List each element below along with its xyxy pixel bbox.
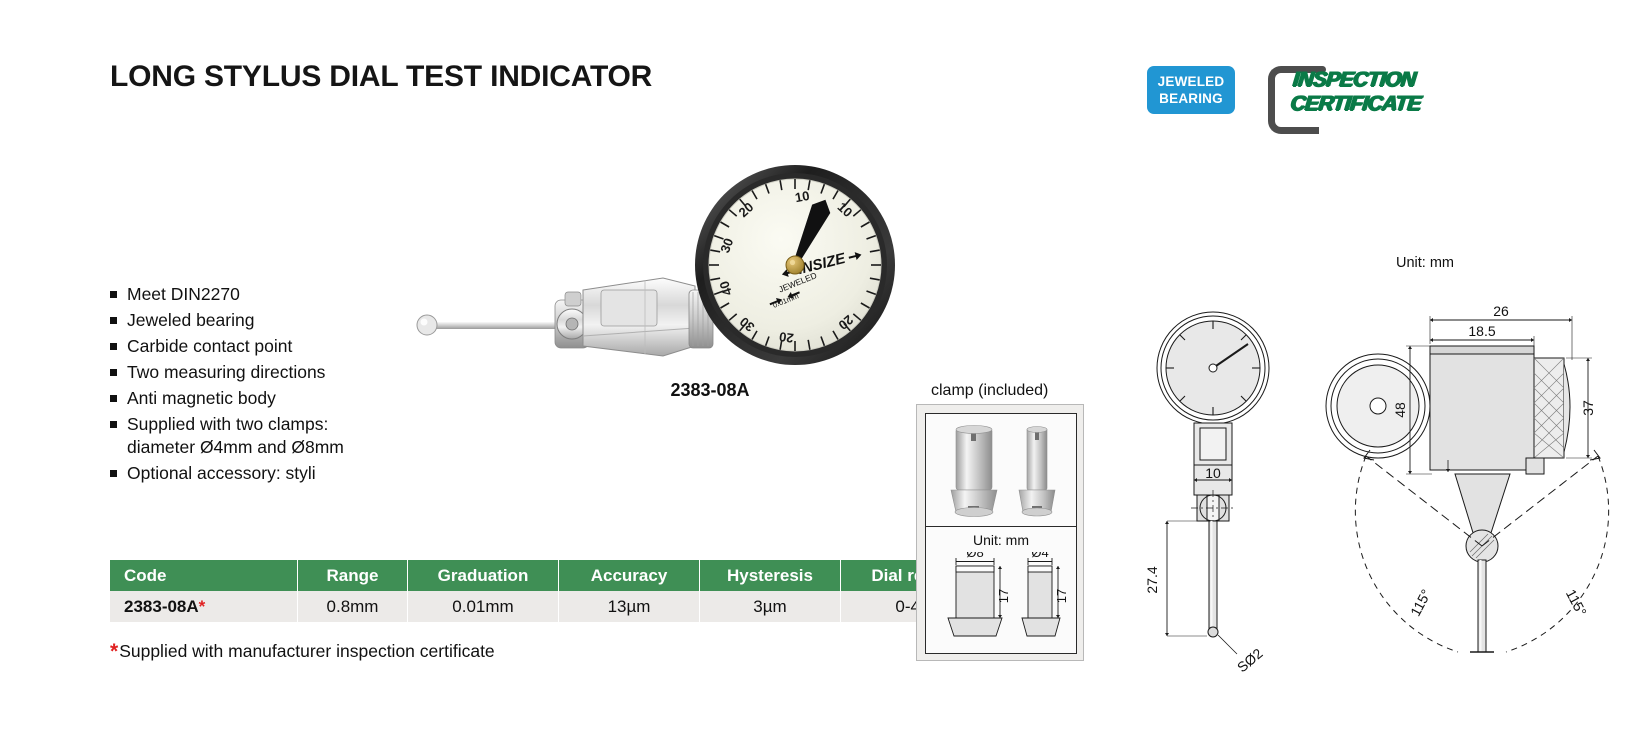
list-item: Two measuring directions <box>110 361 440 384</box>
cell-hysteresis: 3µm <box>700 591 841 622</box>
list-item: Supplied with two clamps: diameter Ø4mm … <box>110 413 440 458</box>
column-header-range: Range <box>298 560 408 591</box>
badge-line-1: JEWELED <box>1158 73 1225 90</box>
badge-line-2: CERTIFICATE <box>1289 92 1422 116</box>
cell-code: 2383-08A* <box>110 591 298 622</box>
clamp-panel-inner: Unit: mm <box>925 413 1077 654</box>
footnote-marker: * <box>110 640 118 663</box>
divider <box>926 526 1076 527</box>
technical-drawings: 10 27.4 SØ2 26 18.5 48 37 115° 115° <box>1095 250 1640 680</box>
clamp-height-label: 17 <box>1054 589 1069 603</box>
footnote-marker: * <box>199 597 206 616</box>
page-title: LONG STYLUS DIAL TEST INDICATOR <box>110 60 652 94</box>
bullet-square-icon <box>110 421 117 428</box>
bullet-square-icon <box>110 369 117 376</box>
list-item: Anti magnetic body <box>110 387 440 410</box>
list-item: Jeweled bearing <box>110 309 440 332</box>
column-header-accuracy: Accuracy <box>559 560 700 591</box>
bullet-square-icon <box>110 343 117 350</box>
dimension-label-bezel-height: 37 <box>1580 400 1596 416</box>
table-header-row: Code Range Graduation Accuracy Hysteresi… <box>110 560 999 591</box>
bullet-square-icon <box>110 317 117 324</box>
svg-text:10: 10 <box>794 188 811 205</box>
table-footnote: *Supplied with manufacturer inspection c… <box>110 640 495 664</box>
cell-range: 0.8mm <box>298 591 408 622</box>
inspection-certificate-badge: INSPECTION CERTIFICATE <box>1268 62 1484 124</box>
clamp-panel-title: clamp (included) <box>931 382 1048 400</box>
list-item: Optional accessory: styli <box>110 462 440 485</box>
feature-label: Carbide contact point <box>127 335 292 358</box>
bullet-square-icon <box>110 395 117 402</box>
bullet-square-icon <box>110 291 117 298</box>
feature-label: Meet DIN2270 <box>127 283 240 306</box>
cell-graduation: 0.01mm <box>408 591 559 622</box>
clamp-photos <box>926 414 1076 526</box>
clamp-height-label: 17 <box>996 589 1011 603</box>
bullet-square-icon <box>110 470 117 477</box>
clamp-diameter-label: Ø4 <box>1031 552 1048 560</box>
dimension-label-length: 27.4 <box>1144 566 1160 593</box>
footnote-text: Supplied with manufacturer inspection ce… <box>119 641 494 661</box>
jeweled-bearing-badge: JEWELED BEARING <box>1147 66 1235 114</box>
dimension-label-body-width: 18.5 <box>1468 323 1495 339</box>
cell-code-value: 2383-08A <box>124 597 199 616</box>
badge-line-1: INSPECTION <box>1292 68 1425 92</box>
product-caption: 2383-08A <box>560 380 860 401</box>
svg-text:20: 20 <box>778 329 794 346</box>
clamp-panel: Unit: mm <box>916 404 1084 661</box>
feature-label: Anti magnetic body <box>127 387 276 410</box>
cell-accuracy: 13µm <box>559 591 700 622</box>
catalog-page: LONG STYLUS DIAL TEST INDICATOR Meet DIN… <box>0 0 1646 740</box>
clamp-dimension-drawings: Ø8 Ø4 17 17 <box>926 552 1076 652</box>
dimension-label-width: 10 <box>1205 465 1221 481</box>
column-header-hysteresis: Hysteresis <box>700 560 841 591</box>
angle-label-left: 115° <box>1407 587 1434 619</box>
specification-table: Code Range Graduation Accuracy Hysteresi… <box>110 560 999 622</box>
dimension-label-tip: SØ2 <box>1234 645 1266 675</box>
dimension-label-overall-width: 26 <box>1493 303 1509 319</box>
clamp-unit-label: Unit: mm <box>926 532 1076 548</box>
badge-line-2: BEARING <box>1159 90 1223 107</box>
feature-list: Meet DIN2270 Jeweled bearing Carbide con… <box>110 283 440 488</box>
feature-label: Supplied with two clamps: <box>127 413 328 436</box>
feature-label-continued: diameter Ø4mm and Ø8mm <box>110 436 344 459</box>
clamp-diameter-label: Ø8 <box>966 552 983 560</box>
column-header-code: Code <box>110 560 298 591</box>
certificate-text: INSPECTION CERTIFICATE <box>1289 68 1424 116</box>
feature-label: Two measuring directions <box>127 361 325 384</box>
product-photo: 20 30 40 30 20 10 10 20 INSIZE JEWELED <box>405 150 905 380</box>
list-item: Carbide contact point <box>110 335 440 358</box>
dimension-label-body-height: 48 <box>1392 402 1408 418</box>
column-header-graduation: Graduation <box>408 560 559 591</box>
list-item: Meet DIN2270 <box>110 283 440 306</box>
table-row: 2383-08A* 0.8mm 0.01mm 13µm 3µm 0-40-0 <box>110 591 999 622</box>
feature-label: Jeweled bearing <box>127 309 254 332</box>
feature-label: Optional accessory: styli <box>127 462 316 485</box>
